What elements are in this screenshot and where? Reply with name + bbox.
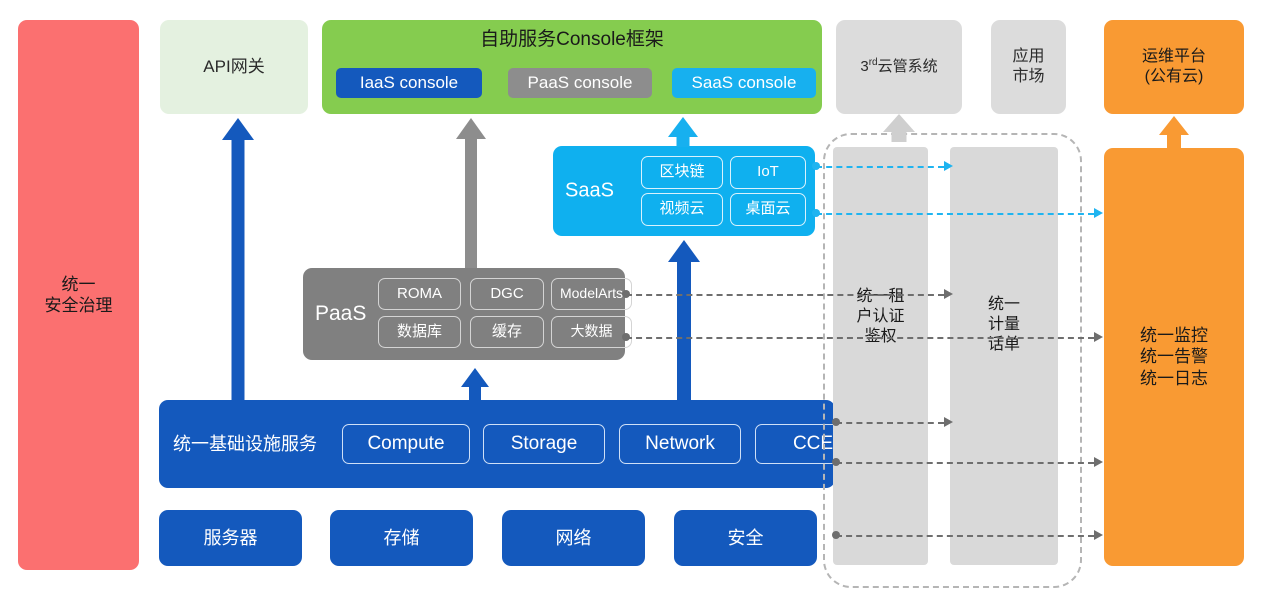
arrowhead-infra-to-tenant-auth bbox=[944, 417, 953, 427]
app-market-line1: 应用 bbox=[1012, 47, 1044, 67]
paas-item-roma[interactable]: ROMA bbox=[378, 278, 461, 310]
paas-item-dgc[interactable]: DGC bbox=[470, 278, 544, 310]
paas-console-chip[interactable]: PaaS console bbox=[508, 68, 652, 98]
tenant-auth-line2: 户认证 bbox=[833, 307, 928, 327]
ops-platform-line1: 运维平台 bbox=[1142, 47, 1206, 67]
arrowhead-paas-to-ops-panel bbox=[1094, 332, 1103, 342]
infra-item-compute[interactable]: Compute bbox=[342, 424, 470, 464]
dashed-infra-to-tenant-auth bbox=[836, 422, 944, 424]
app-market-box: 应用 市场 bbox=[991, 20, 1066, 114]
dashed-paas-to-tenant-auth bbox=[626, 294, 944, 296]
security-panel-line1: 统一 bbox=[45, 274, 113, 295]
unified-infrastructure-service-layer: 统一基础设施服务 Compute Storage Network CCE bbox=[159, 400, 835, 488]
self-service-console-frame: 自助服务Console框架 IaaS console PaaS console … bbox=[322, 20, 822, 114]
paas-item-database[interactable]: 数据库 bbox=[378, 316, 461, 348]
saas-item-desktop-cloud[interactable]: 桌面云 bbox=[730, 193, 806, 226]
arrow-infra-to-paas bbox=[461, 368, 489, 400]
saas-item-iot[interactable]: IoT bbox=[730, 156, 806, 189]
saas-layer-label: SaaS bbox=[565, 179, 614, 204]
metering-line1: 统一 bbox=[950, 295, 1058, 315]
infra-item-network[interactable]: Network bbox=[619, 424, 741, 464]
arrowhead-paas-to-tenant-auth bbox=[944, 289, 953, 299]
dashed-paas-to-ops-panel bbox=[626, 337, 1094, 339]
dashed-hardware-to-ops-panel bbox=[836, 535, 1094, 537]
iaas-console-chip[interactable]: IaaS console bbox=[336, 68, 482, 98]
saas-item-blockchain[interactable]: 区块链 bbox=[641, 156, 723, 189]
tenant-auth-line1: 统一租 bbox=[833, 287, 928, 307]
dashed-saas-to-ops-panel bbox=[816, 213, 1094, 215]
paas-item-cache[interactable]: 缓存 bbox=[470, 316, 544, 348]
arrow-infra-to-saas bbox=[668, 240, 700, 400]
hardware-box-server: 服务器 bbox=[159, 510, 302, 566]
third-party-label: 3rd云管系统 bbox=[860, 57, 937, 77]
dashed-saas-to-tenant-auth bbox=[816, 166, 944, 168]
app-market-line2: 市场 bbox=[1012, 67, 1044, 87]
paas-layer-label: PaaS bbox=[315, 301, 366, 327]
paas-item-modelarts[interactable]: ModelArts bbox=[551, 278, 632, 310]
infra-item-storage[interactable]: Storage bbox=[483, 424, 605, 464]
arrowhead-hardware-to-ops-panel bbox=[1094, 530, 1103, 540]
metering-line2: 计量 bbox=[950, 315, 1058, 335]
paas-layer: PaaS ROMA DGC ModelArts 数据库 缓存 大数据 bbox=[303, 268, 625, 360]
monitoring-line3: 统一日志 bbox=[1140, 368, 1208, 389]
api-gateway-box: API网关 bbox=[160, 20, 308, 114]
monitoring-line1: 统一监控 bbox=[1140, 325, 1208, 346]
ops-platform-line2: (公有云) bbox=[1142, 67, 1206, 87]
unified-monitoring-panel: 统一监控 统一告警 统一日志 bbox=[1104, 148, 1244, 566]
monitoring-line2: 统一告警 bbox=[1140, 346, 1208, 367]
security-panel-line2: 安全治理 bbox=[45, 295, 113, 316]
infra-layer-label: 统一基础设施服务 bbox=[173, 433, 317, 456]
arrow-monitoring-to-ops-platform bbox=[1159, 116, 1189, 150]
saas-item-video-cloud[interactable]: 视频云 bbox=[641, 193, 723, 226]
dashed-infra-to-ops-panel bbox=[836, 462, 1094, 464]
hardware-box-storage: 存储 bbox=[330, 510, 473, 566]
arrow-saas-to-console bbox=[668, 117, 698, 147]
hardware-box-security: 安全 bbox=[674, 510, 817, 566]
saas-layer: SaaS 区块链 IoT 视频云 桌面云 bbox=[553, 146, 815, 236]
hardware-box-network: 网络 bbox=[502, 510, 645, 566]
arrowhead-infra-to-ops-panel bbox=[1094, 457, 1103, 467]
console-frame-title: 自助服务Console框架 bbox=[322, 28, 822, 52]
unified-metering-billing-column: 统一 计量 话单 bbox=[950, 147, 1058, 565]
architecture-diagram: 统一 安全治理 API网关 自助服务Console框架 IaaS console… bbox=[0, 0, 1265, 605]
paas-item-bigdata[interactable]: 大数据 bbox=[551, 316, 632, 348]
arrowhead-saas-to-ops-panel bbox=[1094, 208, 1103, 218]
arrow-shared-to-third-party bbox=[883, 114, 915, 142]
unified-security-governance-panel: 统一 安全治理 bbox=[18, 20, 139, 570]
third-party-cloud-mgmt-box: 3rd云管系统 bbox=[836, 20, 962, 114]
saas-console-chip[interactable]: SaaS console bbox=[672, 68, 816, 98]
api-gateway-label: API网关 bbox=[203, 56, 264, 77]
arrowhead-saas-to-tenant-auth bbox=[944, 161, 953, 171]
arrow-paas-to-console bbox=[456, 118, 486, 268]
arrow-infra-to-api-gateway bbox=[222, 118, 254, 400]
ops-platform-public-cloud-box: 运维平台 (公有云) bbox=[1104, 20, 1244, 114]
unified-tenant-auth-column: 统一租 户认证 鉴权 bbox=[833, 147, 928, 565]
